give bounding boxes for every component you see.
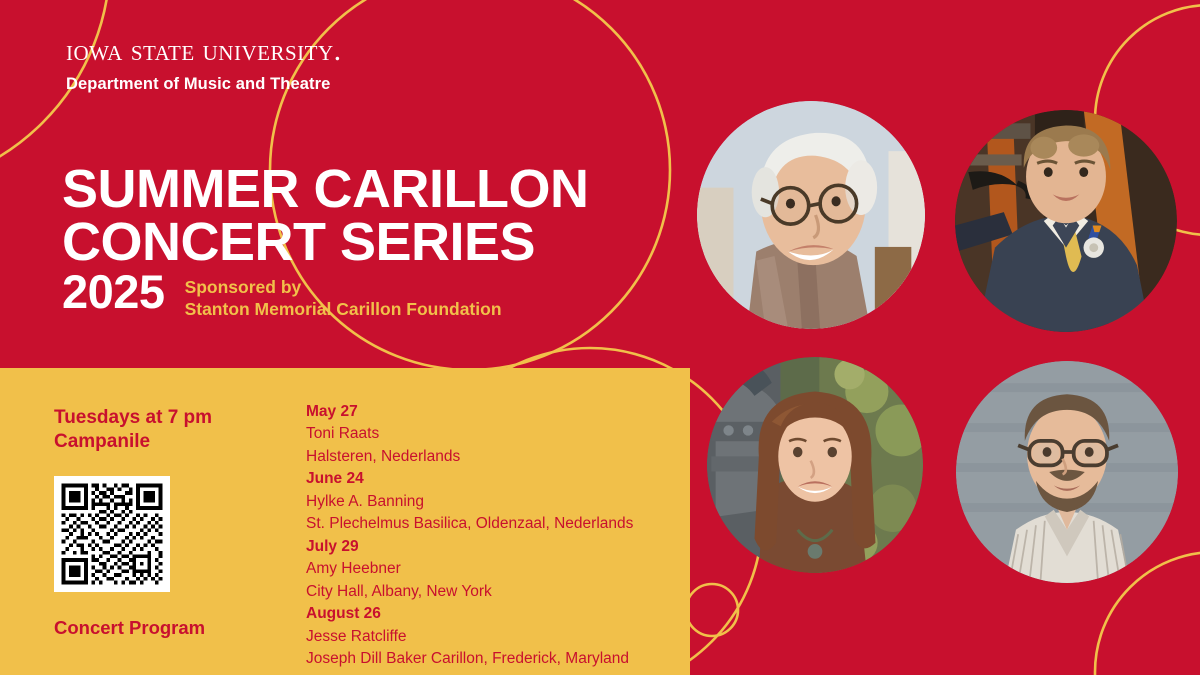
list-item: August 26 Jesse Ratcliffe Joseph Dill Ba…: [306, 603, 686, 670]
qr-code-icon[interactable]: [54, 476, 170, 592]
sponsor-line-2: Stanton Memorial Carillon Foundation: [185, 298, 502, 320]
title-line-2: CONCERT SERIES: [62, 216, 588, 269]
event-date: July 29: [306, 536, 686, 558]
portrait-photo-4: [956, 361, 1178, 583]
portrait-photo-3: [707, 357, 923, 573]
portrait-photo-2: [955, 110, 1177, 332]
event-location: City Hall, Albany, New York: [306, 581, 686, 603]
panel-left-column: Tuesdays at 7 pm Campanile: [54, 406, 284, 639]
event-performer: Jesse Ratcliffe: [306, 626, 686, 648]
schedule-time: Tuesdays at 7 pm: [54, 406, 284, 430]
sponsor-line-1: Sponsored by: [185, 276, 502, 298]
event-location: Halsteren, Nederlands: [306, 446, 686, 468]
page-title: SUMMER CARILLON CONCERT SERIES: [62, 163, 588, 269]
schedule-venue: Campanile: [54, 430, 284, 454]
list-item: July 29 Amy Heebner City Hall, Albany, N…: [306, 536, 686, 603]
isu-logo-lockup: Iowa State University. Department of Mus…: [66, 36, 342, 94]
qr-code-graphic: [58, 480, 166, 588]
isu-wordmark: Iowa State University.: [66, 36, 342, 66]
event-date: August 26: [306, 603, 686, 625]
info-panel: Tuesdays at 7 pm Campanile: [0, 368, 690, 675]
sponsor-block: Sponsored by Stanton Memorial Carillon F…: [185, 276, 502, 321]
portrait-photo-1: [697, 101, 925, 329]
event-date: June 24: [306, 468, 686, 490]
deco-arc-small-panel: [686, 584, 738, 636]
carillon-concert-poster: Iowa State University. Department of Mus…: [0, 0, 1200, 675]
event-performer: Hylke A. Banning: [306, 491, 686, 513]
department-name: Department of Music and Theatre: [66, 75, 342, 94]
year-label: 2025: [62, 268, 165, 315]
concert-schedule-list: May 27 Toni Raats Halsteren, Nederlands …: [306, 401, 686, 671]
schedule-summary: Tuesdays at 7 pm Campanile: [54, 406, 284, 453]
event-location: St. Plechelmus Basilica, Oldenzaal, Nede…: [306, 513, 686, 535]
event-performer: Toni Raats: [306, 423, 686, 445]
event-location: Joseph Dill Baker Carillon, Frederick, M…: [306, 648, 686, 670]
list-item: May 27 Toni Raats Halsteren, Nederlands: [306, 401, 686, 468]
event-performer: Amy Heebner: [306, 558, 686, 580]
list-item: June 24 Hylke A. Banning St. Plechelmus …: [306, 468, 686, 535]
title-line-1: SUMMER CARILLON: [62, 163, 588, 216]
event-date: May 27: [306, 401, 686, 423]
year-sponsor-row: 2025 Sponsored by Stanton Memorial Caril…: [62, 268, 502, 321]
qr-code-label[interactable]: Concert Program: [54, 617, 284, 639]
